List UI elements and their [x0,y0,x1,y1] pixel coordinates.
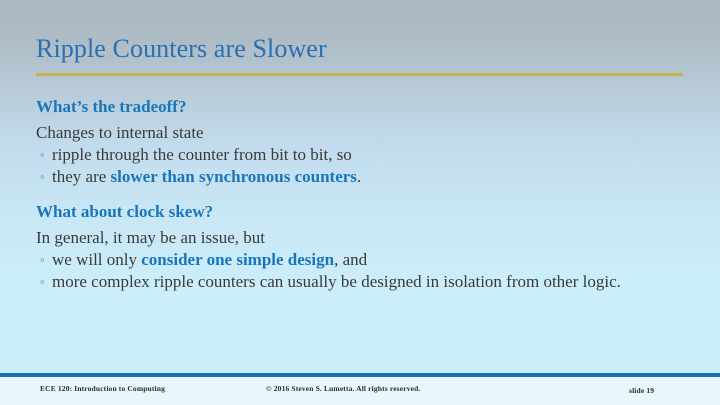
list-item: ◦we will only consider one simple design… [36,249,686,271]
bullet-circle-icon: ◦ [40,249,45,271]
title-divider-rule [36,73,683,76]
list-item-text-highlight: consider one simple design [141,250,334,269]
footer-slide-number: slide 19 [629,386,654,396]
slide-footer: ECE 120: Introduction to Computing © 201… [0,377,720,405]
footer-course-label: ECE 120: Introduction to Computing [40,384,165,394]
list-item-text-plain-before: more complex ripple counters can usually… [52,272,621,291]
section-lead-clock-skew: In general, it may be an issue, but [36,227,686,249]
bullet-circle-icon: ◦ [40,166,45,188]
list-item: ◦more complex ripple counters can usuall… [36,271,686,293]
section-heading-tradeoff: What’s the tradeoff? [36,96,686,118]
section-lead-tradeoff: Changes to internal state [36,122,686,144]
bullet-circle-icon: ◦ [40,144,45,166]
list-item-text-plain-before: we will only [52,250,141,269]
list-item-text-plain-before: they are [52,167,111,186]
list-item-text-plain-before: ripple through the counter from bit to b… [52,145,352,164]
list-item-text-plain-after: , and [334,250,367,269]
footer-copyright-label: © 2016 Steven S. Lumetta. All rights res… [266,384,420,394]
list-item: ◦they are slower than synchronous counte… [36,166,686,188]
list-item: ◦ripple through the counter from bit to … [36,144,686,166]
bullet-list-tradeoff: ◦ripple through the counter from bit to … [36,144,686,188]
list-item-text-plain-after: . [357,167,361,186]
bullet-circle-icon: ◦ [40,271,45,293]
bullet-list-clock-skew: ◦we will only consider one simple design… [36,249,686,293]
slide-body: What’s the tradeoff? Changes to internal… [36,96,686,293]
slide-canvas: Ripple Counters are Slower What’s the tr… [0,0,720,405]
section-heading-clock-skew: What about clock skew? [36,201,686,223]
section-spacer [36,188,686,201]
page-title: Ripple Counters are Slower [36,33,327,65]
list-item-text-highlight: slower than synchronous counters [111,167,357,186]
